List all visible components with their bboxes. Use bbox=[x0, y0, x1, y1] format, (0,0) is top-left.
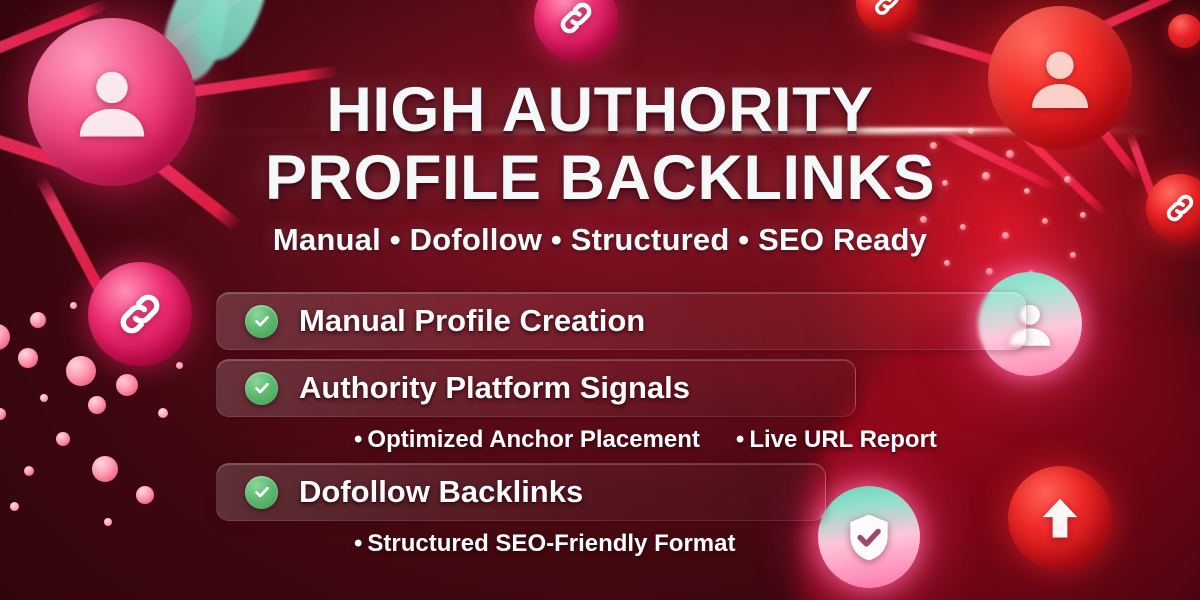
check-circle-icon bbox=[245, 372, 278, 405]
sub-bullet-item: •Live URL Report bbox=[736, 426, 937, 454]
sub-bullet-row: •Structured SEO-Friendly Format bbox=[216, 523, 1026, 565]
sub-bullet-text: Structured SEO-Friendly Format bbox=[367, 530, 735, 557]
feature-row[interactable]: Authority Platform Signals bbox=[216, 359, 856, 417]
sub-bullet-text: Live URL Report bbox=[749, 426, 937, 453]
backlinks-promo-banner: HIGH AUTHORITY PROFILE BACKLINKS Manual … bbox=[0, 0, 1200, 600]
sub-bullet-text: Optimized Anchor Placement bbox=[367, 426, 700, 453]
bullet-glyph: • bbox=[736, 426, 744, 453]
feature-label: Authority Platform Signals bbox=[299, 370, 690, 406]
feature-label: Manual Profile Creation bbox=[299, 303, 645, 339]
check-circle-icon bbox=[245, 305, 278, 338]
page-title: HIGH AUTHORITY PROFILE BACKLINKS bbox=[0, 78, 1200, 211]
feature-row[interactable]: Dofollow Backlinks bbox=[216, 463, 826, 521]
headline-line-1: HIGH AUTHORITY bbox=[326, 75, 873, 145]
check-circle-icon bbox=[245, 476, 278, 509]
feature-list: Manual Profile Creation Authority Platfo… bbox=[216, 292, 1026, 565]
subtitle: Manual • Dofollow • Structured • SEO Rea… bbox=[0, 222, 1200, 258]
feature-row[interactable]: Manual Profile Creation bbox=[216, 292, 1026, 350]
sub-bullet-row: •Optimized Anchor Placement •Live URL Re… bbox=[216, 419, 1026, 461]
feature-label: Dofollow Backlinks bbox=[299, 474, 583, 510]
headline-line-2: PROFILE BACKLINKS bbox=[0, 146, 1200, 210]
bullet-glyph: • bbox=[354, 426, 362, 453]
sub-bullet-item: •Structured SEO-Friendly Format bbox=[354, 530, 735, 558]
bullet-glyph: • bbox=[354, 530, 362, 557]
sub-bullet-item: •Optimized Anchor Placement bbox=[354, 426, 700, 454]
